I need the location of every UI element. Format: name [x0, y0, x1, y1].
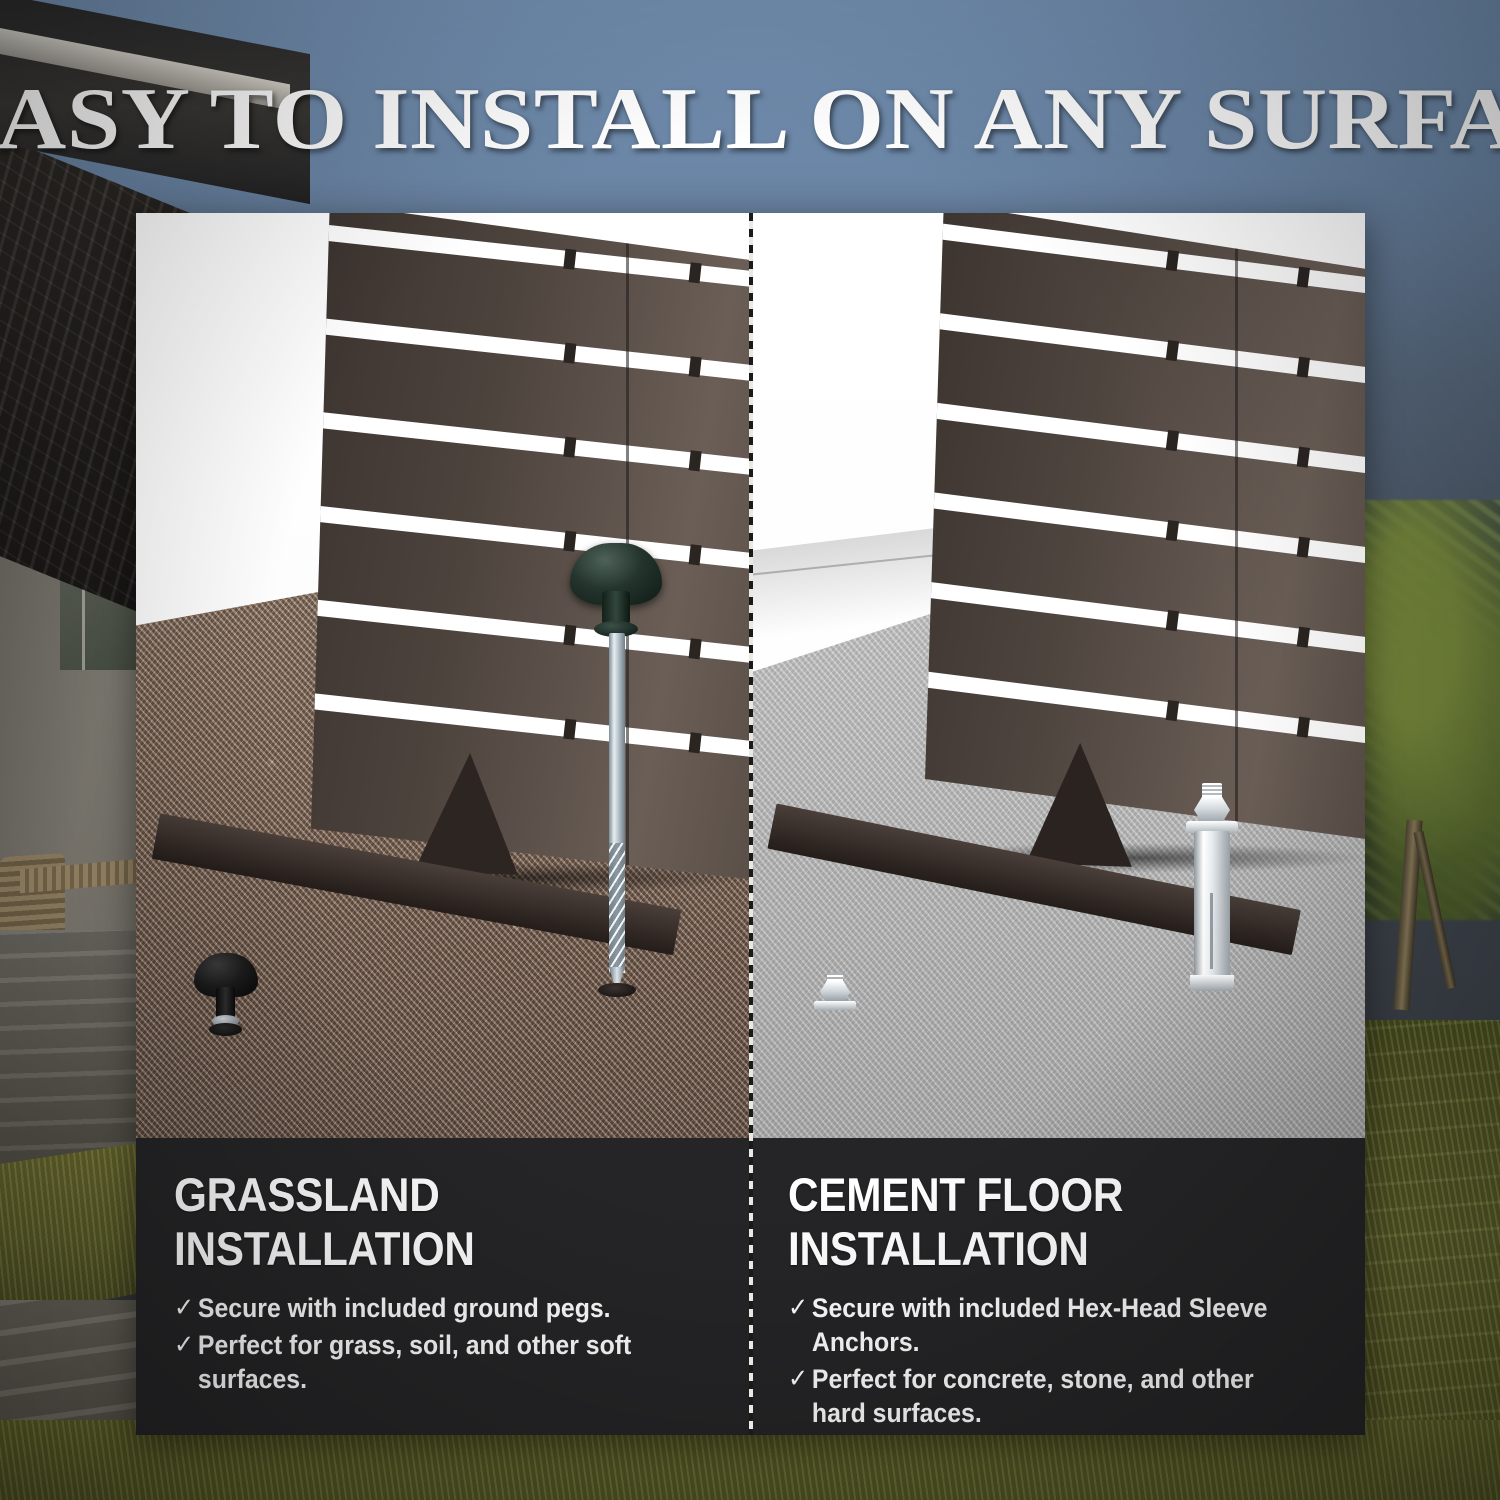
bullet-list: ✓ Secure with included Hex-Head Sleeve A…: [788, 1291, 1331, 1430]
bullet-item: ✓ Secure with included ground pegs.: [174, 1291, 673, 1325]
screen-slat-gap: [925, 669, 1365, 751]
screen-post: [1166, 250, 1179, 271]
screen-post: [563, 249, 576, 270]
anchor-expansion-split: [1210, 893, 1213, 969]
privacy-screen-left: [311, 213, 750, 883]
peg-spiral-thread: [609, 843, 625, 973]
base-gusset-bracket: [414, 751, 522, 875]
screen-slat-gap: [311, 409, 750, 482]
page-title: EASY TO INSTALL ON ANY SURFACE: [0, 76, 1500, 164]
anchor-washer: [814, 1001, 856, 1010]
anchor-foot: [1190, 975, 1234, 991]
screen-slat-gap: [925, 309, 1365, 391]
bullet-item: ✓ Perfect for grass, soil, and other sof…: [174, 1328, 673, 1396]
screen-post: [689, 356, 702, 377]
screen-post: [563, 343, 576, 364]
ground-peg-hardware: [556, 543, 676, 1003]
panel-cement-floor: CEMENT FLOOR INSTALLATION ✓ Secure with …: [750, 213, 1365, 1435]
screen-post: [689, 262, 702, 283]
screen-post: [689, 638, 702, 659]
product-infographic: EASY TO INSTALL ON ANY SURFACE: [0, 0, 1500, 1500]
photo-cement-floor: [750, 213, 1365, 1138]
bullet-text: Secure with included ground pegs.: [198, 1291, 673, 1325]
screen-post: [1297, 447, 1310, 468]
screen-slat-gap: [311, 597, 750, 670]
panel-grassland: GRASSLAND INSTALLATION ✓ Secure with inc…: [136, 213, 750, 1435]
bullet-list: ✓ Secure with included ground pegs. ✓ Pe…: [174, 1291, 716, 1396]
screen-slat-gap: [925, 579, 1365, 661]
photo-grassland: [136, 213, 750, 1138]
screen-post: [689, 450, 702, 471]
bullet-item: ✓ Perfect for concrete, stone, and other…: [788, 1362, 1288, 1430]
screen-slat-gap: [925, 489, 1365, 571]
screen-slat-gap: [311, 691, 750, 764]
comparison-panels: GRASSLAND INSTALLATION ✓ Secure with inc…: [136, 213, 1365, 1435]
caption-cement-floor: CEMENT FLOOR INSTALLATION ✓ Secure with …: [750, 1138, 1365, 1435]
screen-post: [1166, 520, 1179, 541]
hex-head: [1194, 797, 1230, 823]
screen-post: [1297, 357, 1310, 378]
screen-post: [1297, 717, 1310, 738]
screen-post: [1166, 430, 1179, 451]
bullet-item: ✓ Secure with included Hex-Head Sleeve A…: [788, 1291, 1288, 1359]
screen-post: [1166, 610, 1179, 631]
caption-title: CEMENT FLOOR INSTALLATION: [788, 1168, 1277, 1275]
caption-title: GRASSLAND INSTALLATION: [174, 1168, 662, 1275]
check-icon: ✓: [174, 1328, 198, 1361]
screen-slat-gap: [925, 399, 1365, 481]
caption-grassland: GRASSLAND INSTALLATION ✓ Secure with inc…: [136, 1138, 750, 1435]
screen-post: [1297, 537, 1310, 558]
screen-post: [1297, 627, 1310, 648]
screen-post: [563, 437, 576, 458]
peg-neck: [602, 591, 630, 625]
check-icon: ✓: [788, 1362, 812, 1395]
installed-ground-peg: [188, 953, 264, 1043]
check-icon: ✓: [174, 1291, 198, 1324]
bullet-text: Secure with included Hex-Head Sleeve Anc…: [812, 1291, 1288, 1359]
hex-head-sleeve-anchor-hardware: [1176, 783, 1246, 1013]
screen-post: [689, 544, 702, 565]
check-icon: ✓: [788, 1291, 812, 1324]
dashed-divider: [749, 213, 753, 1435]
screen-post: [689, 732, 702, 753]
hex-head: [820, 981, 850, 1003]
peg-base-washer: [209, 1023, 242, 1036]
screen-post: [1166, 700, 1179, 721]
screen-post: [1297, 267, 1310, 288]
screen-panel-seam: [1235, 213, 1238, 843]
base-gusset-bracket: [1026, 741, 1136, 867]
privacy-screen-right: [925, 213, 1365, 843]
peg-ground-washer: [598, 983, 636, 997]
installed-sleeve-anchor: [812, 973, 858, 1017]
bullet-text: Perfect for concrete, stone, and other h…: [812, 1362, 1288, 1430]
screen-slat-gap: [311, 315, 750, 388]
screen-post: [1166, 340, 1179, 361]
bullet-text: Perfect for grass, soil, and other soft …: [198, 1328, 673, 1396]
screen-slat-gap: [311, 503, 750, 576]
